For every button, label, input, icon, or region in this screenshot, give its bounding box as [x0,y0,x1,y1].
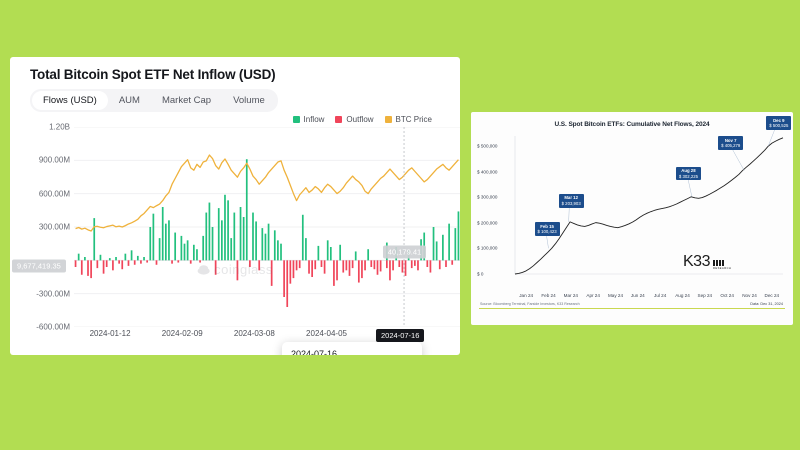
flows-chart: 1.20B900.00M600.00M300.00M-300.00M-600.0… [10,127,460,355]
tab-aum[interactable]: AUM [108,91,151,110]
footer-divider [479,308,785,309]
k33-research-label: RESEARCH [713,267,731,270]
k33-x-axis-tick: Jan 24 [519,293,533,298]
tab-flows-usd[interactable]: Flows (USD) [32,91,108,110]
k33-annotation: Aug 28$ 302,225 [676,167,701,181]
x-axis-tick: 2024-04-05 [306,329,347,338]
k33-research-chart-panel: U.S. Spot Bitcoin ETFs: Cumulative Net F… [471,112,793,325]
coinglass-etf-flows-panel: Total Bitcoin Spot ETF Net Inflow (USD) … [10,57,460,355]
k33-y-axis-tick: $ 400,000 [477,169,497,174]
btc-price-swatch-icon [385,116,392,123]
outflow-swatch-icon [335,116,342,123]
k33-x-axis-tick: Jun 24 [631,293,645,298]
chart-metric-tabs: Flows (USD) AUM Market Cap Volume [30,89,278,112]
k33-y-axis-tick: $ 500,000 [477,144,497,149]
y-axis-tick: 900.00M [39,156,70,165]
legend-item-btc-price[interactable]: BTC Price [385,115,432,124]
k33-y-axis-tick: $ 200,000 [477,220,497,225]
k33-annotation: Mar 12$ 203,903 [559,194,584,208]
k33-annotation: Dec 9$ 500,525 [766,116,791,130]
k33-x-axis-tick: Dec 24 [765,293,780,298]
k33-chart-title: U.S. Spot Bitcoin ETFs: Cumulative Net F… [471,121,793,128]
k33-annotation: Feb 15$ 100,423 [535,222,560,236]
annotation-value: $ 500,525 [769,123,788,128]
y-axis-tick: -600.00M [36,323,70,332]
k33-x-axis-tick: Oct 24 [720,293,734,298]
annotation-value: $ 405,279 [721,143,740,148]
y-axis-tick: 600.00M [39,189,70,198]
plot-area[interactable] [74,127,460,327]
k33-x-axis-tick: May 24 [608,293,623,298]
k33-x-axis-tick: Mar 24 [564,293,578,298]
legend-item-outflow[interactable]: Outflow [335,115,373,124]
y-axis-tick: 1.20B [49,123,70,132]
legend-label-inflow: Inflow [304,115,325,124]
y-axis-tick: -300.00M [36,289,70,298]
tab-market-cap[interactable]: Market Cap [151,91,222,110]
k33-x-axis-tick: Apr 24 [586,293,600,298]
chart-tooltip: 2024-07-16 BTC Price $65010.00 Inflow +4… [282,342,422,355]
x-axis-tick: 2024-03-08 [234,329,275,338]
tab-volume[interactable]: Volume [222,91,276,110]
x-cursor-date-badge: 2024-07-16 [376,329,424,342]
date-stamp: Data: Dec 31, 2024 [750,302,783,306]
right-price-pill: 40,179.41 [383,246,426,259]
y-axis: 1.20B900.00M600.00M300.00M-300.00M-600.0… [10,127,74,327]
legend-item-inflow[interactable]: Inflow [293,115,325,124]
annotation-value: $ 100,423 [538,229,557,234]
k33-x-axis-tick: Jul 24 [654,293,666,298]
tooltip-date: 2024-07-16 [291,349,413,355]
annotation-date: Aug 28 [679,168,698,173]
page-title: Total Bitcoin Spot ETF Net Inflow (USD) [30,67,275,82]
k33-wordmark: K33 [683,254,710,270]
k33-y-axis-tick: $ 100,000 [477,246,497,251]
x-axis-tick: 2024-01-12 [90,329,131,338]
legend-label-btc-price: BTC Price [396,115,432,124]
inflow-swatch-icon [293,116,300,123]
annotation-value: $ 302,225 [679,174,698,179]
k33-plot-area [471,130,793,290]
k33-x-axis-tick: Sep 24 [698,293,713,298]
k33-y-axis-tick: $ 0 [477,272,483,277]
left-price-pill: 9,677,419.35 [12,260,66,273]
k33-annotation: Nov 7$ 405,279 [718,136,743,150]
source-note: Source: Bloomberg Terminal, Farside Inve… [480,302,580,306]
x-axis-tick: 2024-02-09 [162,329,203,338]
legend-label-outflow: Outflow [346,115,373,124]
flows-svg [74,127,460,327]
annotation-date: Mar 12 [562,195,581,200]
k33-x-axis-tick: Nov 24 [742,293,757,298]
k33-logo: K33 RESEARCH [683,254,731,270]
annotation-value: $ 203,903 [562,201,581,206]
k33-y-axis-tick: $ 300,000 [477,195,497,200]
chart-legend: Inflow Outflow BTC Price [293,115,432,124]
k33-x-axis-tick: Aug 24 [675,293,690,298]
y-axis-tick: 300.00M [39,223,70,232]
k33-mark-icon: RESEARCH [713,260,731,270]
k33-x-axis-tick: Feb 24 [541,293,555,298]
k33-line-svg [471,130,793,290]
